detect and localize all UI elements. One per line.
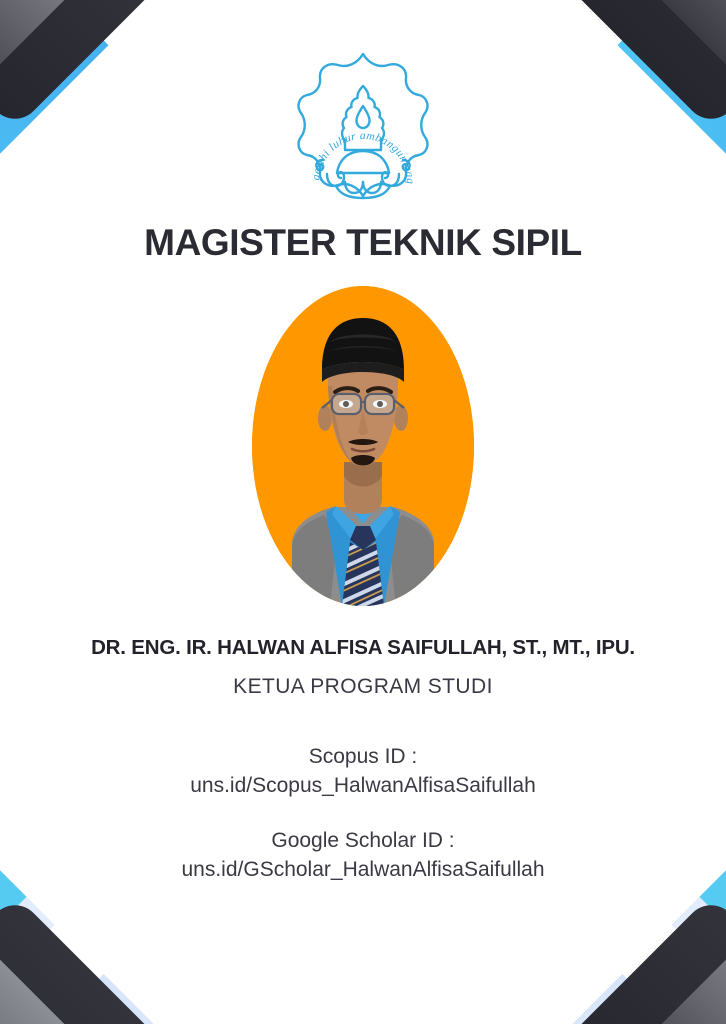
- poster-card: mangesthi luhur ambangun nagara MAGISTER…: [0, 0, 726, 1024]
- uns-logo-icon: mangesthi luhur ambangun nagara: [293, 42, 433, 212]
- person-name: DR. ENG. IR. HALWAN ALFISA SAIFULLAH, ST…: [91, 636, 635, 660]
- identifier-scopus: Scopus ID : uns.id/Scopus_HalwanAlfisaSa…: [181, 743, 544, 801]
- identifier-list: Scopus ID : uns.id/Scopus_HalwanAlfisaSa…: [181, 743, 544, 911]
- portrait-photo-icon: [252, 286, 474, 606]
- page-title: MAGISTER TEKNIK SIPIL: [144, 222, 582, 264]
- identifier-value[interactable]: uns.id/GScholar_HalwanAlfisaSaifullah: [181, 856, 544, 885]
- person-role: KETUA PROGRAM STUDI: [233, 675, 493, 699]
- identifier-label: Scopus ID :: [181, 743, 544, 772]
- identifier-value[interactable]: uns.id/Scopus_HalwanAlfisaSaifullah: [181, 772, 544, 801]
- identifier-label: Google Scholar ID :: [181, 827, 544, 856]
- identifier-google-scholar: Google Scholar ID : uns.id/GScholar_Halw…: [181, 827, 544, 885]
- avatar: [252, 286, 474, 606]
- poster-content: mangesthi luhur ambangun nagara MAGISTER…: [0, 0, 726, 1024]
